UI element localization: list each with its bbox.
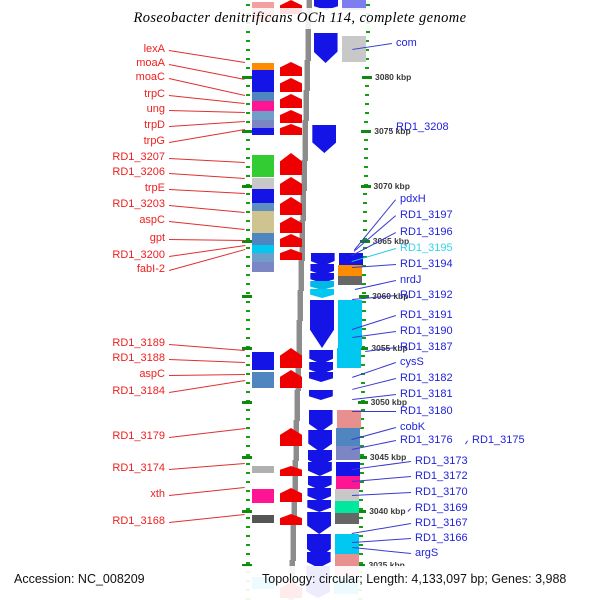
gene-label[interactable]: com xyxy=(396,38,417,49)
gene-feature-arrow-forward[interactable] xyxy=(280,177,302,195)
ruler-tick xyxy=(246,121,250,123)
ruler-tick xyxy=(246,499,250,501)
ruler-tick xyxy=(246,220,250,222)
gene-feature-arrow-reverse[interactable] xyxy=(312,125,336,153)
gene-label-leader-line xyxy=(169,514,245,523)
gene-label[interactable]: moaC xyxy=(0,72,165,83)
ruler-tick xyxy=(246,112,250,114)
gene-label[interactable]: RD1_3176 xyxy=(400,435,453,446)
ruler-tick xyxy=(246,337,250,339)
ruler-tick xyxy=(246,490,250,492)
gene-feature-arrow-reverse[interactable] xyxy=(309,390,333,400)
gene-label-leader-line xyxy=(169,463,245,470)
ruler-tick xyxy=(362,274,366,276)
gene-label[interactable]: fabI-2 xyxy=(0,264,165,275)
gene-feature-box[interactable] xyxy=(252,63,274,70)
ruler-tick xyxy=(246,265,250,267)
ruler-tick xyxy=(361,391,365,393)
ruler-tick xyxy=(365,58,369,60)
gene-feature-arrow-reverse[interactable] xyxy=(310,300,334,348)
ruler-tick xyxy=(362,328,366,330)
gene-label[interactable]: aspC xyxy=(0,369,165,380)
gene-label-leader-line xyxy=(169,374,245,376)
ruler-tick xyxy=(246,382,250,384)
gene-label-leader-line xyxy=(169,78,245,96)
page-title: Roseobacter denitrificans OCh 114, compl… xyxy=(0,8,600,29)
gene-feature-box[interactable] xyxy=(337,348,361,368)
gene-label[interactable]: RD1_3189 xyxy=(0,338,165,349)
gene-label[interactable]: RD1_3194 xyxy=(400,259,453,270)
ruler-tick xyxy=(365,40,369,42)
gene-feature-box[interactable] xyxy=(252,189,274,203)
gene-label-leader-line xyxy=(169,64,245,80)
footer-status-bar: Accession: NC_008209 Topology: circular;… xyxy=(0,566,600,600)
gene-feature-arrow-forward[interactable] xyxy=(280,110,302,123)
ruler-tick-major xyxy=(358,401,368,404)
gene-label[interactable]: RD1_3184 xyxy=(0,386,165,397)
ruler-tick xyxy=(246,103,250,105)
gene-label[interactable]: RD1_3207 xyxy=(0,152,165,163)
ruler-tick xyxy=(246,319,250,321)
ruler-tick xyxy=(246,148,250,150)
gene-feature-box[interactable] xyxy=(252,233,274,245)
ruler-tick-major xyxy=(361,130,371,133)
gene-label[interactable]: trpE xyxy=(0,183,165,194)
ruler-tick-label: 3080 kbp xyxy=(375,72,411,82)
ruler-tick xyxy=(246,445,250,447)
gene-feature-arrow-reverse[interactable] xyxy=(307,500,331,512)
gene-feature-arrow-reverse[interactable] xyxy=(307,512,331,534)
ruler-tick xyxy=(364,139,368,141)
ruler-tick xyxy=(246,481,250,483)
gene-feature-arrow-forward[interactable] xyxy=(280,514,302,525)
gene-label[interactable]: RD1_3195 xyxy=(400,243,453,254)
gene-label[interactable]: pdxH xyxy=(400,194,426,205)
gene-label-leader-line xyxy=(169,50,245,63)
gene-label-leader-line xyxy=(169,359,245,363)
ruler-tick xyxy=(365,94,369,96)
gene-label[interactable]: moaA xyxy=(0,58,165,69)
ruler-tick xyxy=(365,85,369,87)
ruler-tick xyxy=(365,67,369,69)
gene-feature-box[interactable] xyxy=(252,92,274,101)
ruler-tick xyxy=(246,58,250,60)
gene-label[interactable]: xth xyxy=(0,489,165,500)
ruler-tick xyxy=(246,157,250,159)
ruler-tick xyxy=(364,166,368,168)
ruler-tick xyxy=(246,409,250,411)
gene-label[interactable]: RD1_3174 xyxy=(0,463,165,474)
gene-feature-box[interactable] xyxy=(336,476,360,489)
gene-label[interactable]: lexA xyxy=(0,44,165,55)
gene-feature-box[interactable] xyxy=(252,203,274,211)
ruler-tick xyxy=(364,157,368,159)
gene-label-leader-line xyxy=(169,173,245,179)
ruler-tick xyxy=(359,553,363,555)
ruler-tick xyxy=(361,364,365,366)
ruler-tick xyxy=(246,526,250,528)
ruler-tick-major xyxy=(242,510,252,513)
ruler-tick xyxy=(246,373,250,375)
gene-feature-arrow-forward[interactable] xyxy=(280,197,302,215)
gene-label[interactable]: RD1_3170 xyxy=(415,487,468,498)
gene-label[interactable]: aspC xyxy=(0,215,165,226)
ruler-tick xyxy=(366,4,370,6)
ruler-tick xyxy=(359,535,363,537)
ruler-tick xyxy=(366,31,370,33)
ruler-tick xyxy=(359,517,363,519)
gene-label-leader-line xyxy=(169,121,245,127)
gene-feature-arrow-reverse[interactable] xyxy=(308,462,332,476)
gene-label[interactable]: RD1_3191 xyxy=(400,310,453,321)
gene-label-leader-line xyxy=(169,95,245,104)
ruler-tick xyxy=(365,49,369,51)
ruler-tick xyxy=(246,472,250,474)
ruler-tick xyxy=(246,301,250,303)
ruler-tick xyxy=(246,256,250,258)
gene-feature-box[interactable] xyxy=(252,101,274,111)
ruler-tick xyxy=(246,544,250,546)
gene-feature-box[interactable] xyxy=(337,410,361,428)
gene-feature-box[interactable] xyxy=(335,534,359,554)
gene-feature-arrow-reverse[interactable] xyxy=(310,289,334,298)
gene-label[interactable]: RD1_3166 xyxy=(415,533,468,544)
gene-label-leader-line xyxy=(169,487,245,496)
gene-label-leader-line xyxy=(352,411,396,412)
ruler-tick-label: 3070 kbp xyxy=(374,181,410,191)
gene-label[interactable]: RD1_3208 xyxy=(396,122,449,133)
ruler-tick xyxy=(365,112,369,114)
gene-label-leader-line xyxy=(169,110,245,113)
gene-feature-arrow-forward[interactable] xyxy=(280,62,302,76)
gene-label-leader-line xyxy=(169,428,245,438)
gene-label[interactable]: RD1_3168 xyxy=(0,516,165,527)
gene-label[interactable]: RD1_3203 xyxy=(0,199,165,210)
gene-label-leader-line xyxy=(169,221,245,230)
gene-label[interactable]: RD1_3182 xyxy=(400,373,453,384)
ruler-tick xyxy=(362,292,366,294)
ruler-tick xyxy=(246,4,250,6)
gene-feature-box[interactable] xyxy=(252,111,274,120)
ruler-tick xyxy=(246,364,250,366)
ruler-tick-major xyxy=(242,185,252,188)
gene-label[interactable]: RD1_3181 xyxy=(400,389,453,400)
gene-label[interactable]: RD1_3197 xyxy=(400,210,453,221)
genome-map-viewer: 3080 kbp3075 kbp3070 kbp3065 kbp3060 kbp… xyxy=(0,0,600,600)
gene-feature-box[interactable] xyxy=(252,515,274,523)
ruler-tick xyxy=(246,193,250,195)
ruler-tick xyxy=(246,418,250,420)
ruler-tick xyxy=(364,175,368,177)
gene-label[interactable]: RD1_3172 xyxy=(415,471,468,482)
gene-feature-arrow-reverse[interactable] xyxy=(308,430,332,452)
gene-feature-arrow-forward[interactable] xyxy=(280,78,302,92)
gene-feature-box[interactable] xyxy=(335,501,359,513)
gene-label-leader-line xyxy=(169,380,245,393)
gene-feature-arrow-forward[interactable] xyxy=(280,94,302,108)
gene-label[interactable]: RD1_3196 xyxy=(400,227,453,238)
ruler-tick xyxy=(246,517,250,519)
ruler-tick xyxy=(362,319,366,321)
ruler-tick-major xyxy=(242,130,252,133)
gene-label[interactable]: trpG xyxy=(0,136,165,147)
gene-feature-box[interactable] xyxy=(252,352,274,370)
gene-feature-arrow-reverse[interactable] xyxy=(307,488,331,501)
ruler-tick xyxy=(359,499,363,501)
gene-label-leader-line xyxy=(169,129,245,143)
ruler-tick xyxy=(246,229,250,231)
gene-label-leader-line xyxy=(407,508,411,512)
ruler-tick xyxy=(246,67,250,69)
gene-label-leader-line xyxy=(391,128,392,131)
ruler-tick xyxy=(359,544,363,546)
gene-feature-box[interactable] xyxy=(252,120,274,128)
ruler-tick xyxy=(246,139,250,141)
gene-label-leader-line xyxy=(352,492,411,496)
ruler-tick xyxy=(246,175,250,177)
gene-feature-box[interactable] xyxy=(335,513,359,524)
ruler-tick xyxy=(246,463,250,465)
ruler-tick xyxy=(362,283,366,285)
gene-label[interactable]: gpt xyxy=(0,233,165,244)
gene-label[interactable]: RD1_3188 xyxy=(0,353,165,364)
gene-feature-box[interactable] xyxy=(252,155,274,177)
gene-label-leader-line xyxy=(169,205,245,213)
ruler-tick xyxy=(246,553,250,555)
ruler-tick xyxy=(362,301,366,303)
gene-label[interactable]: RD1_3179 xyxy=(0,431,165,442)
ruler-tick xyxy=(246,40,250,42)
ruler-tick xyxy=(246,274,250,276)
ruler-tick xyxy=(363,211,367,213)
gene-feature-box[interactable] xyxy=(338,276,362,285)
ruler-tick xyxy=(246,202,250,204)
ruler-tick xyxy=(246,355,250,357)
ruler-tick xyxy=(360,463,364,465)
gene-label-leader-line xyxy=(353,215,396,252)
gene-feature-box[interactable] xyxy=(252,253,274,262)
ruler-tick xyxy=(246,328,250,330)
gene-label[interactable]: RD1_3167 xyxy=(415,518,468,529)
gene-label[interactable]: RD1_3187 xyxy=(400,342,453,353)
ruler-tick xyxy=(364,121,368,123)
ruler-tick xyxy=(246,391,250,393)
ruler-tick xyxy=(363,202,367,204)
ruler-tick xyxy=(246,94,250,96)
gene-feature-arrow-reverse[interactable] xyxy=(309,410,333,432)
gene-label-leader-line xyxy=(352,378,396,390)
topology-text: Topology: circular; Length: 4,133,097 bp… xyxy=(262,572,566,586)
gene-label-leader-line xyxy=(169,239,245,241)
gene-feature-arrow-reverse[interactable] xyxy=(310,281,334,290)
gene-label[interactable]: RD1_3169 xyxy=(415,503,468,514)
gene-feature-box[interactable] xyxy=(252,372,274,388)
ruler-tick xyxy=(246,310,250,312)
gene-label-leader-line xyxy=(465,440,468,444)
ruler-tick xyxy=(359,490,363,492)
gene-feature-box[interactable] xyxy=(252,262,274,272)
ruler-tick xyxy=(362,337,366,339)
gene-feature-arrow-reverse[interactable] xyxy=(308,476,332,490)
gene-label-leader-line xyxy=(169,189,245,194)
gene-feature-box[interactable] xyxy=(252,245,274,253)
gene-label-leader-line xyxy=(352,538,411,543)
ruler-tick-major xyxy=(361,185,371,188)
ruler-tick xyxy=(360,427,364,429)
gene-feature-box[interactable] xyxy=(252,489,274,503)
ruler-tick xyxy=(246,166,250,168)
gene-label[interactable]: argS xyxy=(415,548,438,559)
ruler-tick xyxy=(246,535,250,537)
gene-label[interactable]: cobK xyxy=(400,422,425,433)
ruler-tick xyxy=(246,85,250,87)
gene-feature-box[interactable] xyxy=(252,70,274,92)
ruler-tick xyxy=(246,436,250,438)
gene-label[interactable]: RD1_3175 xyxy=(472,435,525,446)
gene-label-leader-line xyxy=(352,523,411,534)
gene-feature-arrow-forward[interactable] xyxy=(280,124,302,135)
ruler-tick xyxy=(246,292,250,294)
gene-feature-box[interactable] xyxy=(252,178,274,189)
ruler-tick xyxy=(365,103,369,105)
ruler-tick-major xyxy=(242,295,252,298)
gene-label[interactable]: ung xyxy=(0,104,165,115)
gene-feature-arrow-forward[interactable] xyxy=(280,153,302,175)
gene-label[interactable]: trpD xyxy=(0,120,165,131)
gene-feature-box[interactable] xyxy=(252,128,274,135)
gene-label[interactable]: RD1_3206 xyxy=(0,167,165,178)
ruler-tick xyxy=(359,526,363,528)
ruler-tick xyxy=(361,355,365,357)
ruler-tick-major xyxy=(242,456,252,459)
gene-feature-arrow-reverse[interactable] xyxy=(309,372,333,382)
ruler-tick xyxy=(363,229,367,231)
ruler-tick xyxy=(363,193,367,195)
ruler-tick xyxy=(246,283,250,285)
ruler-tick xyxy=(246,31,250,33)
gene-feature-box[interactable] xyxy=(338,300,362,348)
gene-label[interactable]: RD1_3173 xyxy=(415,456,468,467)
gene-label-leader-line xyxy=(169,249,245,271)
ruler-tick xyxy=(360,418,364,420)
ruler-tick xyxy=(246,49,250,51)
ruler-tick xyxy=(364,148,368,150)
gene-label-leader-line xyxy=(169,344,245,351)
gene-label[interactable]: RD1_3192 xyxy=(400,290,453,301)
ruler-tick xyxy=(246,427,250,429)
gene-feature-arrow-reverse[interactable] xyxy=(314,33,338,63)
gene-feature-arrow-reverse[interactable] xyxy=(309,350,333,364)
gene-feature-arrow-forward[interactable] xyxy=(280,466,302,476)
ruler-tick xyxy=(246,247,250,249)
ruler-tick-label: 3045 kbp xyxy=(370,452,406,462)
accession-text: Accession: NC_008209 xyxy=(14,572,145,586)
gene-label[interactable]: nrdJ xyxy=(400,275,421,286)
gene-label[interactable]: RD1_3180 xyxy=(400,406,453,417)
ruler-tick xyxy=(363,220,367,222)
gene-label[interactable]: RD1_3200 xyxy=(0,250,165,261)
ruler-tick-major xyxy=(362,76,372,79)
gene-feature-box[interactable] xyxy=(252,466,274,473)
gene-label[interactable]: cysS xyxy=(400,357,424,368)
ruler-tick-label: 3040 kbp xyxy=(369,506,405,516)
gene-label-leader-line xyxy=(352,476,411,482)
ruler-tick xyxy=(360,472,364,474)
ruler-tick xyxy=(246,211,250,213)
ruler-tick-major xyxy=(242,401,252,404)
gene-label[interactable]: RD1_3190 xyxy=(400,326,453,337)
gene-label[interactable]: trpC xyxy=(0,89,165,100)
gene-feature-box[interactable] xyxy=(252,211,274,233)
genome-map-canvas[interactable]: 3080 kbp3075 kbp3070 kbp3065 kbp3060 kbp… xyxy=(0,0,600,600)
gene-feature-arrow-forward[interactable] xyxy=(280,488,302,502)
ruler-tick xyxy=(362,310,366,312)
ruler-tick xyxy=(361,382,365,384)
gene-label-leader-line xyxy=(169,158,245,163)
